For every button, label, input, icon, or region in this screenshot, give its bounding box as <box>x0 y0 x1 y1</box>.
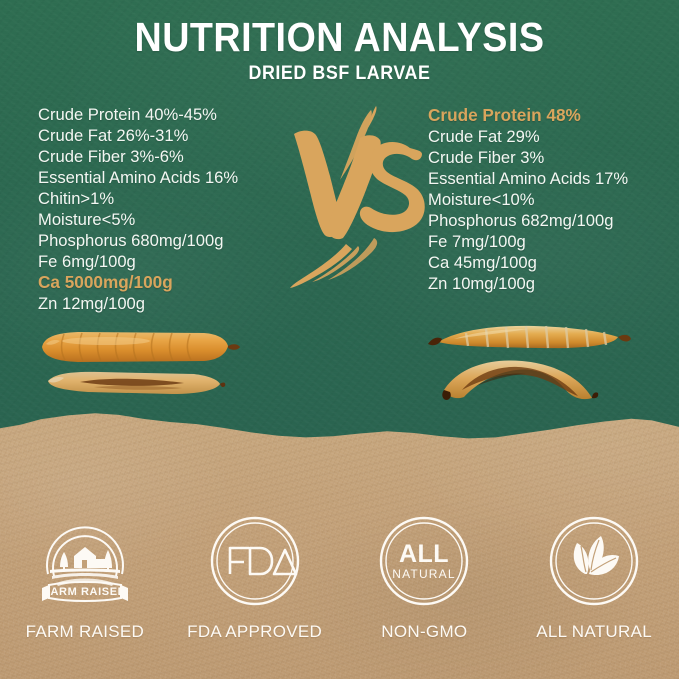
spec-item-right-1: Crude Fat 29% <box>428 126 628 147</box>
spec-item-left-8: Ca 5000mg/100g <box>38 272 238 293</box>
non-gmo-icon-natural-text: NATURAL <box>393 567 457 581</box>
right-product-spec-list: Crude Protein 48%Crude Fat 29%Crude Fibe… <box>428 105 628 294</box>
bsf-larva-photo-bottom <box>44 369 226 396</box>
spec-item-left-6: Phosphorus 680mg/100g <box>38 230 238 251</box>
mealworm-larva-photo-bottom <box>432 352 620 402</box>
farm-raised-icon: FARM RAISED <box>36 512 134 610</box>
farm-raised-ribbon-text: FARM RAISED <box>44 586 126 598</box>
left-product-spec-list: Crude Protein 40%-45%Crude Fat 26%-31%Cr… <box>38 104 238 314</box>
spec-item-right-0: Crude Protein 48% <box>428 105 628 126</box>
non-gmo-icon: ALL NATURAL <box>375 512 473 610</box>
spec-item-left-5: Moisture<5% <box>38 209 238 230</box>
spec-item-right-8: Zn 10mg/100g <box>428 273 628 294</box>
badge-all-natural[interactable]: ALL NATURAL <box>519 512 669 642</box>
badge-label: ALL NATURAL <box>536 622 652 642</box>
spec-item-right-6: Fe 7mg/100g <box>428 231 628 252</box>
page-title: NUTRITION ANALYSIS <box>27 13 652 61</box>
badge-label: FARM RAISED <box>26 622 145 642</box>
versus-brush-graphic <box>288 104 428 294</box>
spec-item-right-4: Moisture<10% <box>428 189 628 210</box>
spec-item-left-2: Crude Fiber 3%-6% <box>38 146 238 167</box>
spec-item-right-3: Essential Amino Acids 17% <box>428 168 628 189</box>
badge-label: NON-GMO <box>381 622 467 642</box>
spec-item-left-3: Essential Amino Acids 16% <box>38 167 238 188</box>
infographic-canvas: NUTRITION ANALYSIS DRIED BSF LARVAE Crud… <box>0 0 679 679</box>
badge-fda-approved[interactable]: FDA APPROVED <box>180 512 330 642</box>
badge-label: FDA APPROVED <box>187 622 322 642</box>
badge-non-gmo[interactable]: ALL NATURAL NON-GMO <box>349 512 499 642</box>
non-gmo-icon-all-text: ALL <box>399 540 449 568</box>
badge-farm-raised[interactable]: FARM RAISED FARM RAISED <box>10 512 160 642</box>
fda-approved-icon <box>206 512 304 610</box>
spec-item-right-2: Crude Fiber 3% <box>428 147 628 168</box>
all-natural-leaf-icon <box>545 512 643 610</box>
spec-item-left-4: Chitin>1% <box>38 188 238 209</box>
spec-item-left-0: Crude Protein 40%-45% <box>38 104 238 125</box>
certification-badge-row: FARM RAISED FARM RAISED <box>0 512 679 662</box>
spec-item-right-7: Ca 45mg/100g <box>428 252 628 273</box>
spec-item-left-9: Zn 12mg/100g <box>38 293 238 314</box>
spec-item-left-1: Crude Fat 26%-31% <box>38 125 238 146</box>
spec-item-left-7: Fe 6mg/100g <box>38 251 238 272</box>
spec-item-right-5: Phosphorus 682mg/100g <box>428 210 628 231</box>
bsf-larva-photo-top <box>36 330 242 364</box>
mealworm-larva-photo-top <box>424 318 632 354</box>
page-subtitle: DRIED BSF LARVAE <box>20 62 658 86</box>
